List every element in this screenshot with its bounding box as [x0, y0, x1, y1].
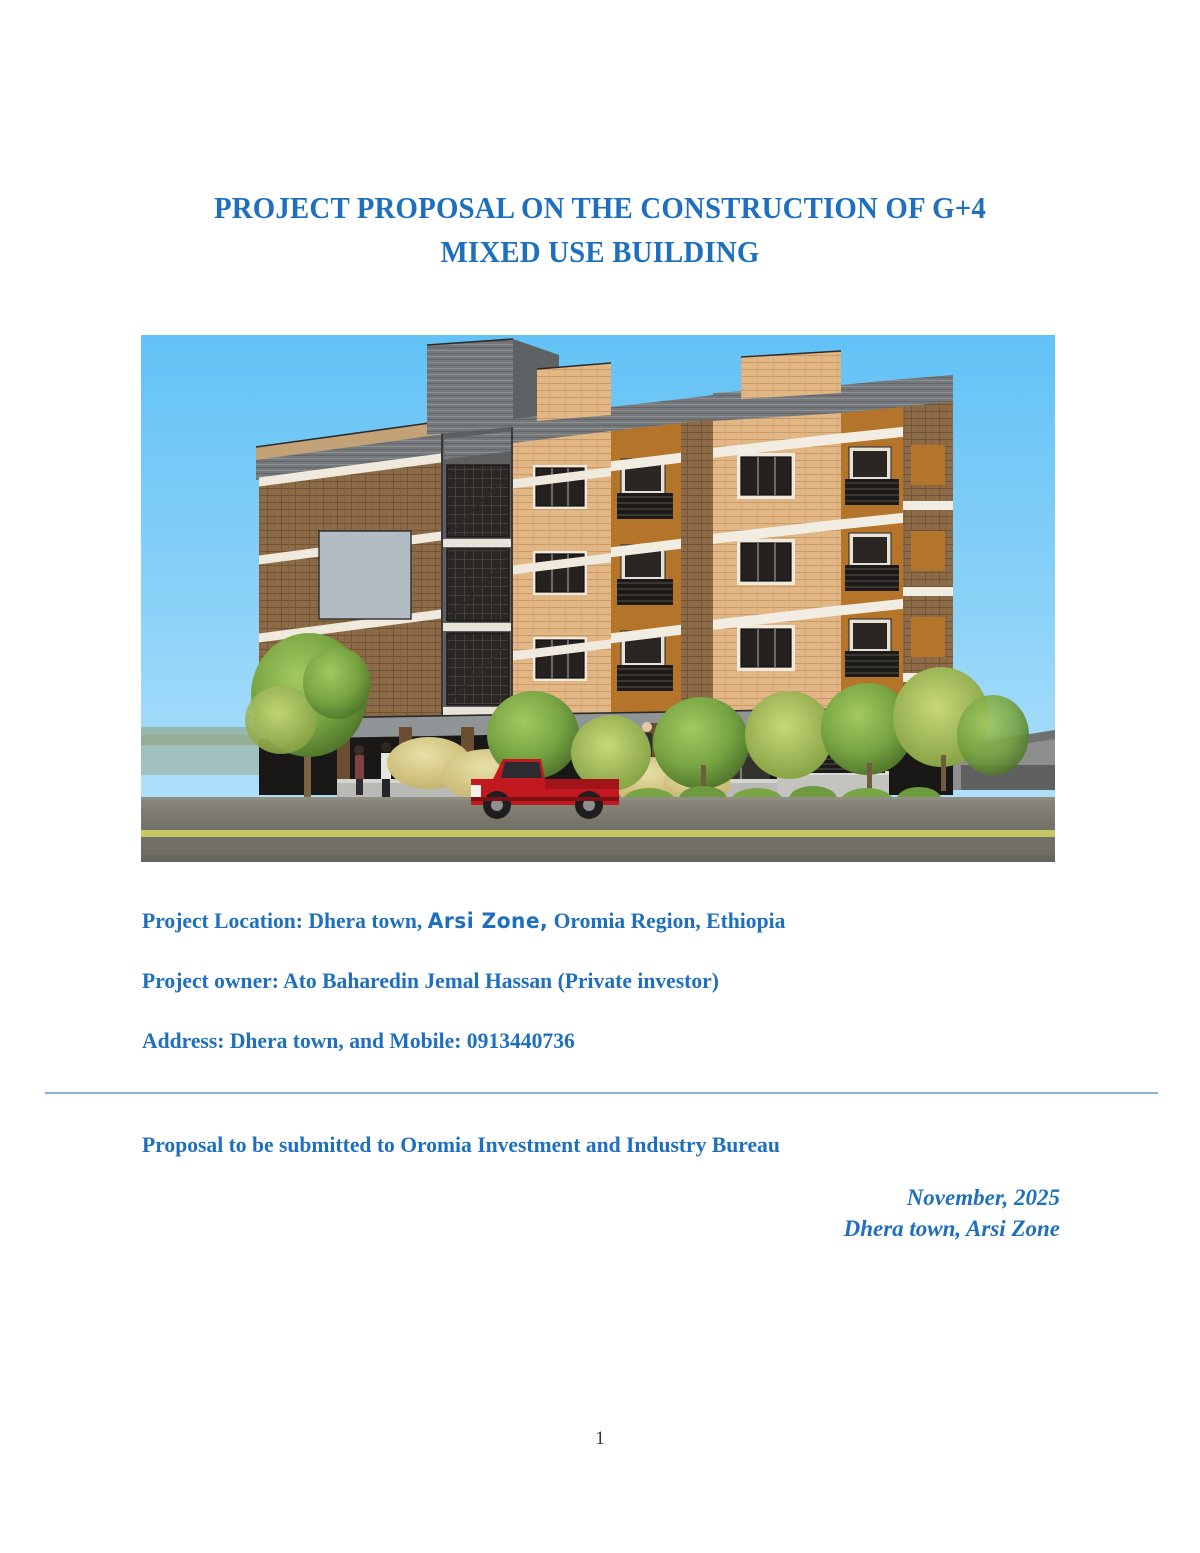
- project-location-prefix: Project Location: Dhera town,: [142, 908, 428, 933]
- project-address-line: Address: Dhera town, and Mobile: 0913440…: [142, 1026, 1083, 1056]
- project-location-suffix: Oromia Region, Ethiopia: [548, 908, 785, 933]
- submission-line: Proposal to be submitted to Oromia Inves…: [142, 1130, 1083, 1160]
- project-info-block: Project Location: Dhera town, Arsi Zone,…: [142, 906, 1122, 1056]
- page-title: PROJECT PROPOSAL ON THE CONSTRUCTION OF …: [100, 186, 1100, 274]
- project-location-line: Project Location: Dhera town, Arsi Zone,…: [142, 906, 1083, 936]
- road-center-line: [141, 830, 1055, 837]
- building-rendering-svg: [141, 335, 1055, 862]
- document-page: PROJECT PROPOSAL ON THE CONSTRUCTION OF …: [0, 0, 1200, 1553]
- building-rendering-figure: [141, 335, 1055, 862]
- title-line-1: PROJECT PROPOSAL ON THE CONSTRUCTION OF …: [135, 186, 1065, 230]
- page-number: 1: [0, 1428, 1200, 1450]
- project-location-zone: Arsi Zone,: [428, 909, 548, 933]
- project-owner-line: Project owner: Ato Baharedin Jemal Hassa…: [142, 966, 1083, 996]
- date-line: November, 2025: [160, 1182, 1060, 1213]
- horizontal-divider: [45, 1092, 1158, 1094]
- date-place-block: November, 2025 Dhera town, Arsi Zone: [160, 1182, 1060, 1244]
- place-line: Dhera town, Arsi Zone: [160, 1213, 1060, 1244]
- title-line-2: MIXED USE BUILDING: [135, 230, 1065, 274]
